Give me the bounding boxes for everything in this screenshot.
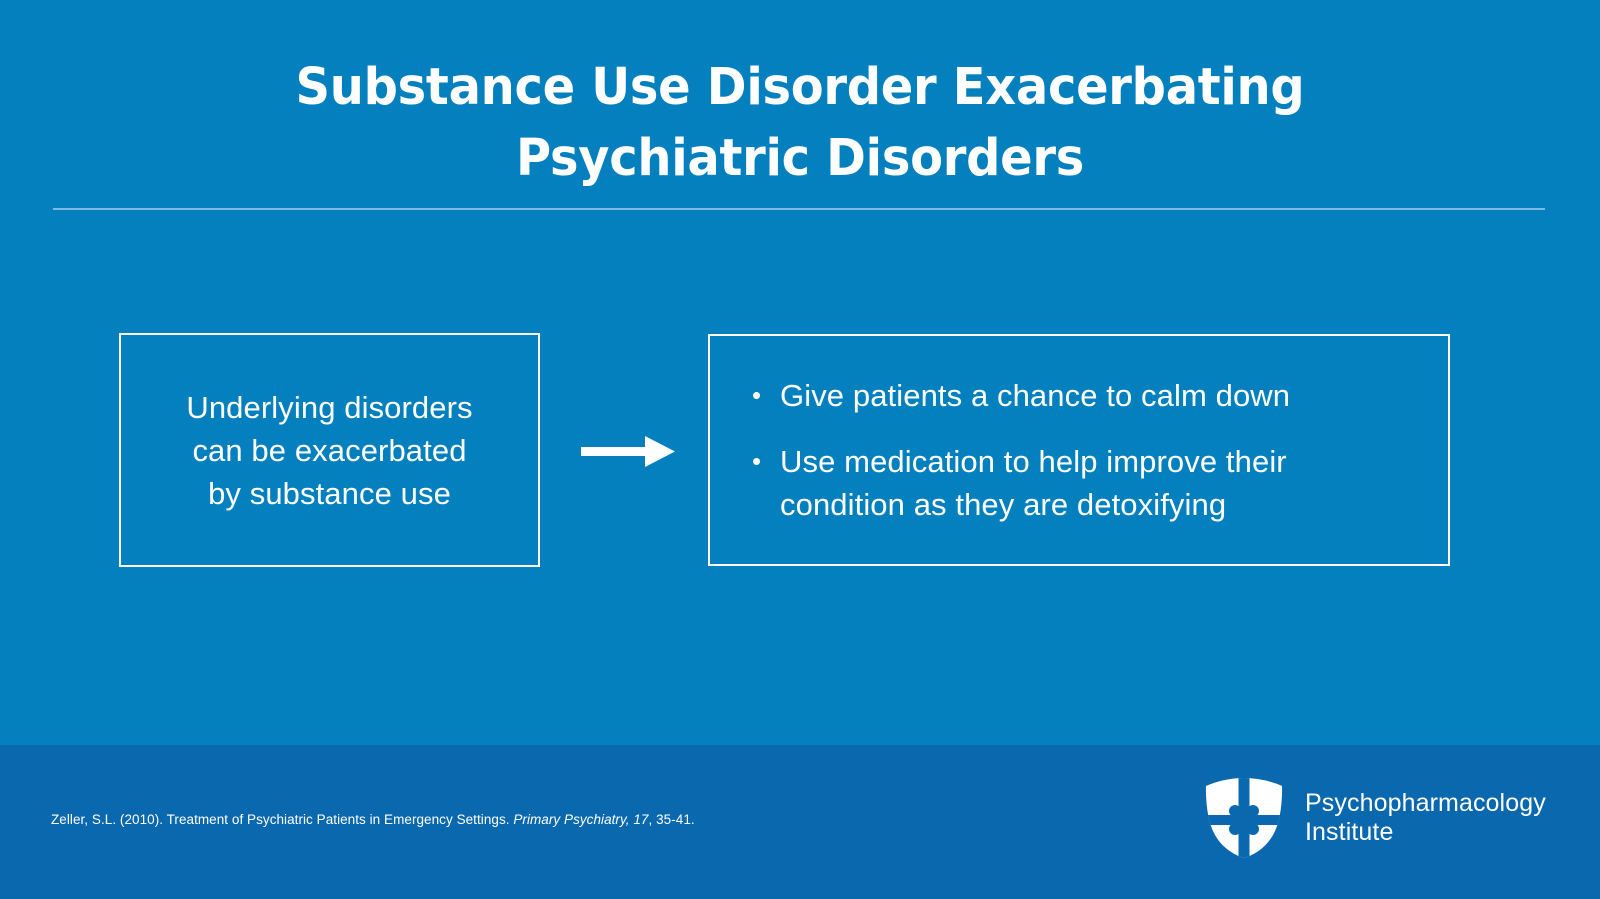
- page-title-line-2: Psychiatric Disorders: [516, 129, 1084, 188]
- bullet-icon: •: [752, 440, 761, 483]
- page-title-line-1: Substance Use Disorder Exacerbating: [296, 58, 1305, 117]
- premise-box: Underlying disorders can be exacerbated …: [119, 333, 540, 567]
- premise-line-1: Underlying disorders: [186, 386, 472, 429]
- citation-part-2: , 35-41.: [649, 812, 695, 827]
- arrow-right-icon: [581, 432, 675, 472]
- premise-line-3: by substance use: [186, 472, 472, 515]
- recommendations-list: • Give patients a chance to calm down • …: [750, 374, 1414, 526]
- brand-name: Psychopharmacology Institute: [1305, 789, 1546, 847]
- slide-title-block: Substance Use Disorder Exacerbating Psyc…: [0, 52, 1600, 194]
- recommendations-box: • Give patients a chance to calm down • …: [708, 334, 1450, 566]
- citation-journal: Primary Psychiatry, 17: [513, 812, 648, 827]
- list-item-line-1: Use medication to help improve their: [780, 444, 1287, 479]
- premise-box-text: Underlying disorders can be exacerbated …: [186, 386, 472, 515]
- shield-logo-icon: [1205, 778, 1283, 858]
- slide-canvas: Substance Use Disorder Exacerbating Psyc…: [0, 0, 1600, 899]
- list-item: • Use medication to help improve their c…: [750, 440, 1414, 526]
- brand-name-line-2: Institute: [1305, 818, 1546, 847]
- brand-logo: Psychopharmacology Institute: [1205, 776, 1545, 860]
- title-divider: [53, 208, 1545, 210]
- list-item-line-2: condition as they are detoxifying: [780, 487, 1226, 522]
- citation-part-1: Zeller, S.L. (2010). Treatment of Psychi…: [51, 812, 513, 827]
- page-title: Substance Use Disorder Exacerbating Psyc…: [48, 52, 1552, 194]
- list-item: • Give patients a chance to calm down: [750, 374, 1414, 417]
- brand-name-line-1: Psychopharmacology: [1305, 789, 1546, 818]
- bullet-icon: •: [752, 374, 761, 417]
- citation-text: Zeller, S.L. (2010). Treatment of Psychi…: [51, 810, 951, 829]
- premise-line-2: can be exacerbated: [186, 429, 472, 472]
- list-item-line-1: Give patients a chance to calm down: [780, 378, 1290, 413]
